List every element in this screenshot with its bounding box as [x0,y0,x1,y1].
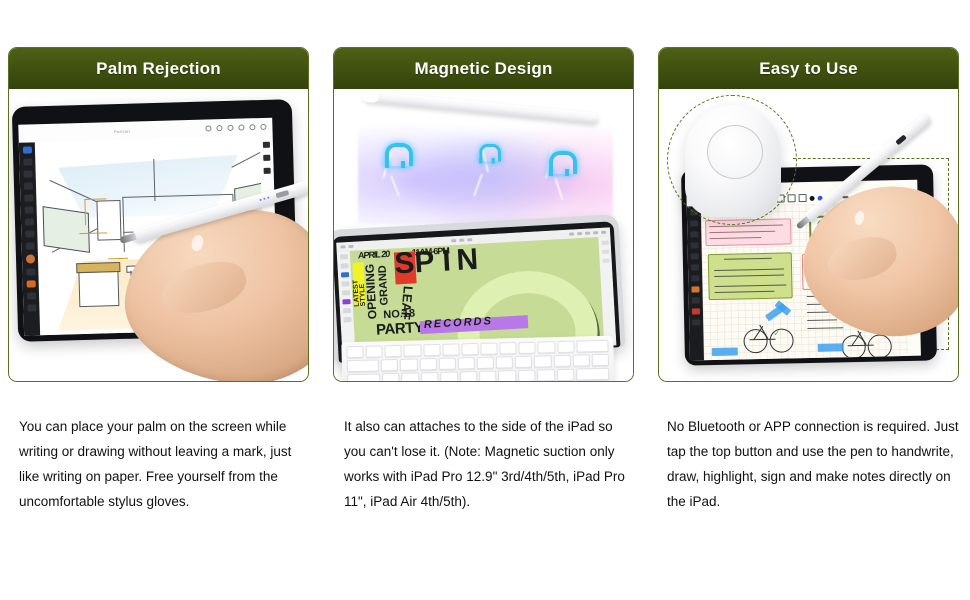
eyedropper-icon[interactable] [341,290,349,295]
dresser-shape [78,268,119,307]
feature-panel-magnetic-design: Magnetic Design [333,0,636,600]
stylus-indicator-lights [259,196,269,201]
adjust-icon[interactable] [227,125,233,131]
lasso-tool-icon[interactable] [25,230,34,237]
crop-tool-icon[interactable] [799,194,807,202]
toolbar-center-icons[interactable] [451,238,472,243]
toolbar-right-icons[interactable] [569,230,606,236]
layers-tool-icon[interactable] [23,182,32,189]
ruler-tool-icon[interactable] [24,218,33,225]
eraser-tool-icon[interactable] [23,170,32,177]
color-swatch-black[interactable] [810,195,815,200]
app-topbar-icons [205,124,272,132]
zoom-out-icon[interactable] [263,155,270,161]
settings-icon[interactable] [343,317,351,322]
panel-caption: You can place your palm on the screen wh… [19,414,307,514]
feature-card: Magnetic Design [333,47,634,382]
color-swatch-icon[interactable] [342,299,350,304]
stylus-top-button[interactable] [707,125,763,179]
stylus-cap [362,91,379,103]
feature-panel-easy-to-use: Easy to Use [658,0,961,600]
highlighter-tool-icon[interactable] [690,231,698,237]
shape-tool-icon[interactable] [341,281,349,286]
history-icon[interactable] [26,292,35,299]
select-icon[interactable] [249,124,255,130]
stylus-top-closeup [685,105,781,217]
settings-icon[interactable] [692,319,700,325]
card-header: Magnetic Design [334,48,633,89]
type-tool-icon[interactable] [340,263,348,268]
brush-tool-icon[interactable] [340,272,348,277]
export-icon[interactable] [602,259,609,263]
stylus-band [275,190,289,198]
shape-tool-icon[interactable] [691,253,699,259]
text-tool-icon[interactable] [24,206,33,213]
move-tool-icon[interactable] [339,254,347,259]
card-header: Easy to Use [659,48,958,89]
door-shape [96,200,121,241]
dresser-top [76,262,120,273]
undo-icon[interactable] [205,125,211,131]
card-title: Magnetic Design [414,59,552,79]
eraser-tool-icon[interactable] [691,242,699,248]
card-image-area: APRIL 20 11AM-6PM LATEST STYLE OPENING G… [334,89,633,382]
properties-icon[interactable] [601,241,608,245]
pencil-tool-icon[interactable] [23,158,32,165]
brush-tool-icon[interactable] [22,146,31,153]
feature-panel-palm-rejection: Palm Rejection Portrait [8,0,311,600]
toolbar-left-icons[interactable] [340,245,353,249]
card-image-area: HOT [659,89,958,382]
card-header: Palm Rejection [9,48,308,89]
redo-icon[interactable] [216,125,222,131]
text-tool-icon[interactable] [788,194,796,202]
layers-icon[interactable] [692,297,700,303]
feature-panels-stage: Palm Rejection Portrait [0,0,970,600]
panel-caption: No Bluetooth or APP connection is requir… [667,414,962,514]
sticker-tool-icon[interactable] [691,275,699,281]
card-title: Easy to Use [759,59,858,79]
stylus-button [895,134,907,145]
grid-icon[interactable] [264,168,271,174]
window-left [43,206,90,253]
palette-icon[interactable] [26,280,35,287]
feature-card: Palm Rejection Portrait [8,47,309,382]
smudge-icon[interactable] [238,124,244,130]
zoom-in-icon[interactable] [263,142,270,148]
card-image-area: Portrait [9,89,308,382]
transform-icon[interactable] [260,124,266,130]
pen-tool-icon[interactable] [690,220,698,226]
note-tool-icon[interactable] [691,264,699,270]
settings-icon[interactable] [27,304,36,311]
palette-icon[interactable] [692,308,700,314]
panel-caption: It also can attaches to the side of the … [344,414,632,514]
layers-icon[interactable] [342,308,350,313]
app-topbar-title: Portrait [38,126,205,136]
magnet-icon [475,142,498,165]
color-swatch-icon[interactable] [691,286,699,292]
card-title: Palm Rejection [96,59,221,79]
magnet-icon [544,149,574,179]
opacity-tool-icon[interactable] [26,268,35,275]
feature-card: Easy to Use [658,47,959,382]
align-icon[interactable] [602,250,609,254]
magnet-icon [380,141,410,171]
color-swatch-icon[interactable] [25,254,34,263]
fill-tool-icon[interactable] [25,242,34,249]
shapes-tool-icon[interactable] [24,194,33,201]
magic-keyboard[interactable] [341,336,614,382]
